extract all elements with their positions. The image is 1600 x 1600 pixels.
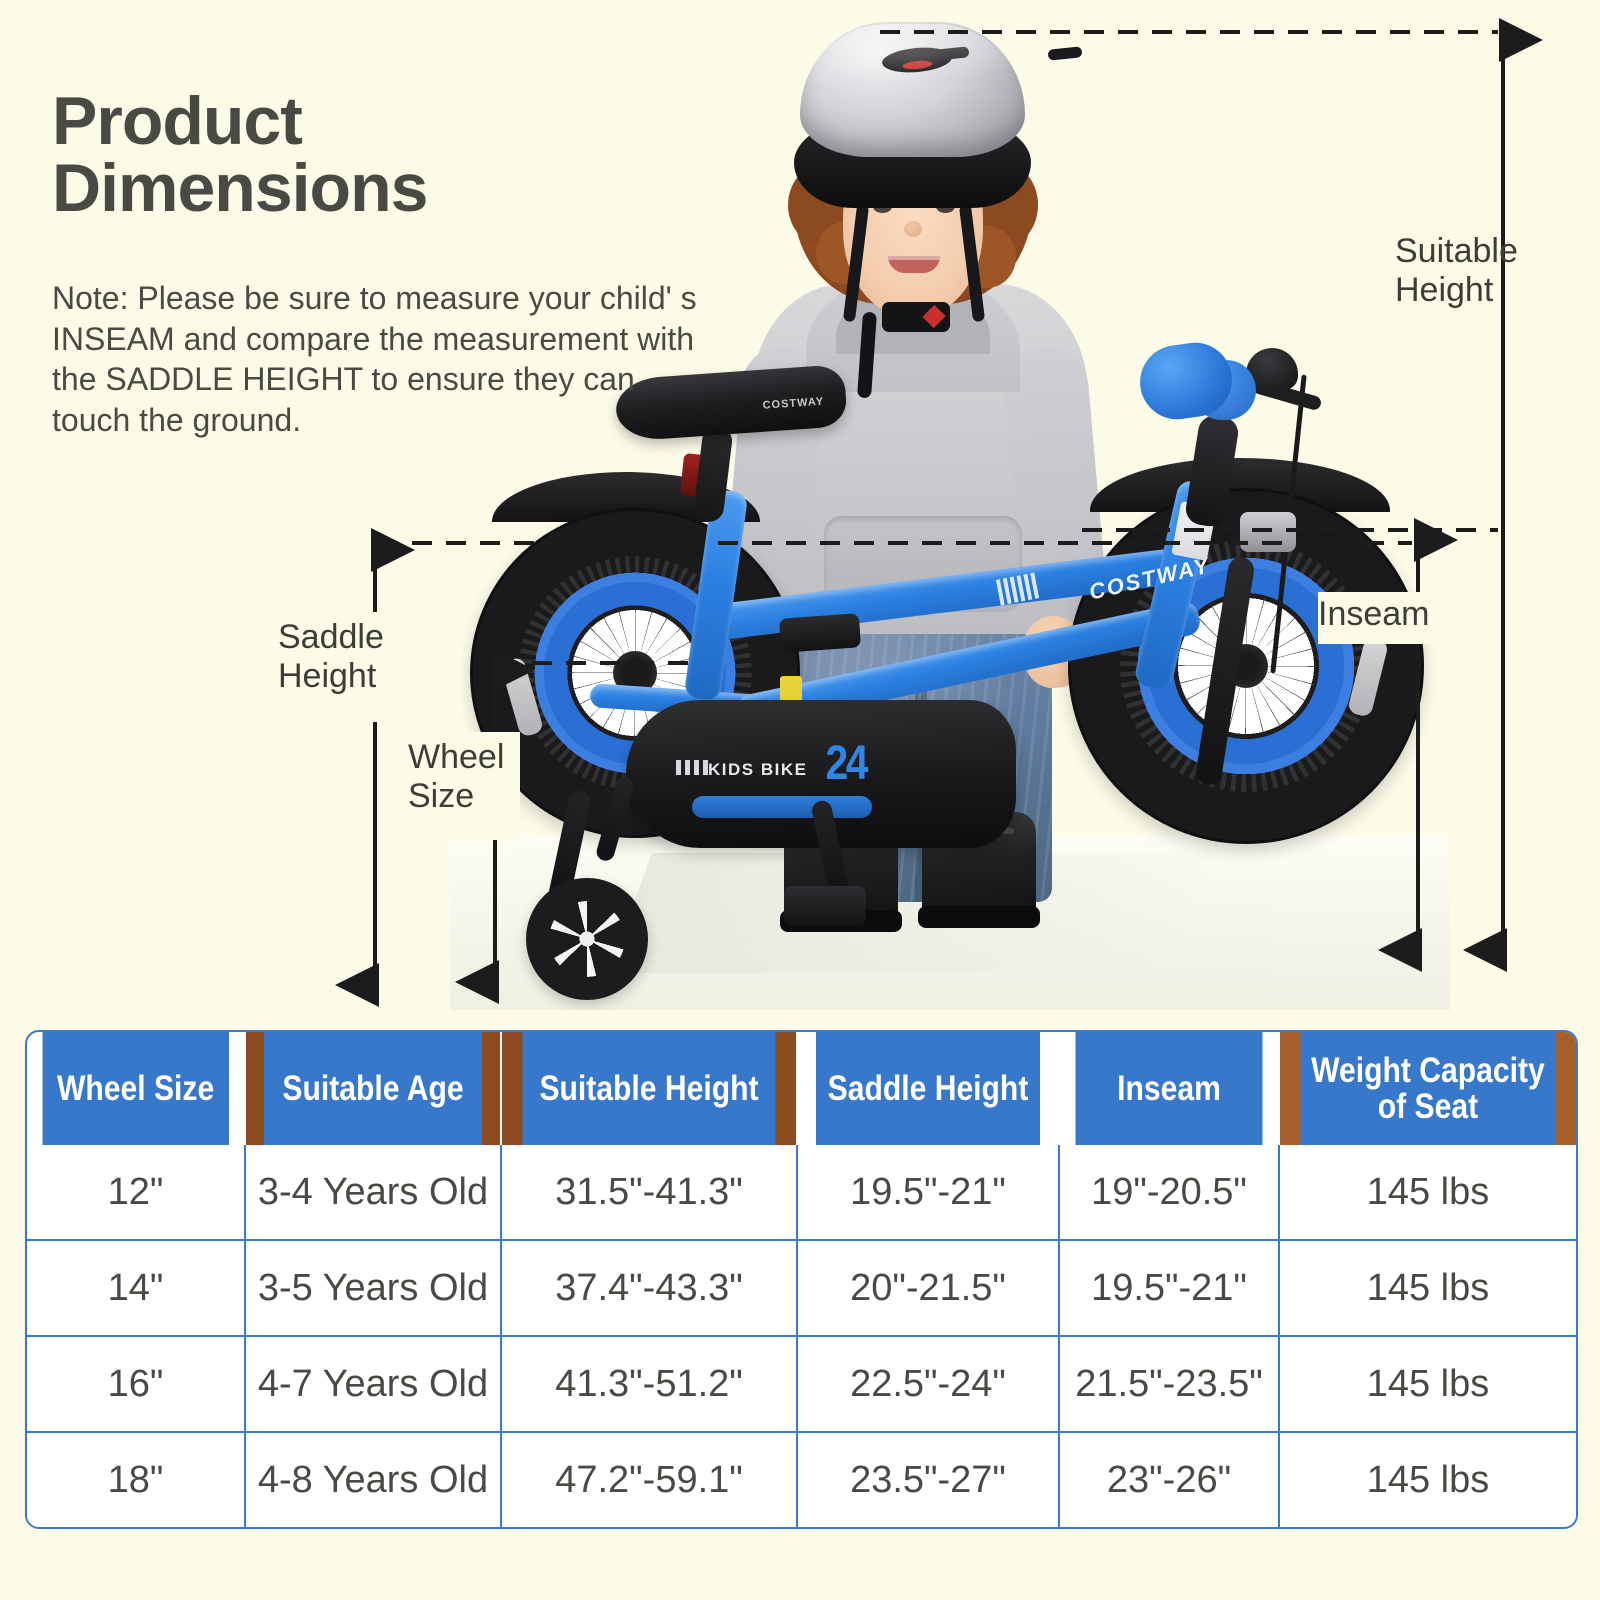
nose xyxy=(904,221,922,237)
cell-r0-c4: 19"-20.5" xyxy=(1059,1145,1279,1240)
chainguard-number: 24 xyxy=(826,736,866,791)
table-row: 14"3-5 Years Old37.4"-43.3"20"-21.5"19.5… xyxy=(27,1240,1576,1336)
table-body: 12"3-4 Years Old31.5"-41.3"19.5"-21"19"-… xyxy=(27,1145,1576,1527)
label-saddle-height: Saddle Height xyxy=(278,618,458,696)
table-row: 16"4-7 Years Old41.3"-51.2"22.5"-24"21.5… xyxy=(27,1336,1576,1432)
page-title: Product Dimensions xyxy=(52,88,692,221)
spec-table: Wheel SizeSuitable AgeSuitable HeightSad… xyxy=(27,1032,1576,1527)
cell-r0-c0: 12" xyxy=(27,1145,245,1240)
cell-r2-c2: 41.3"-51.2" xyxy=(501,1336,797,1432)
cell-r2-c4: 21.5"-23.5" xyxy=(1059,1336,1279,1432)
cell-r1-c5: 145 lbs xyxy=(1279,1240,1576,1336)
chainguard-bars xyxy=(676,760,708,775)
bottle-holder xyxy=(779,613,861,652)
mouth xyxy=(888,256,940,273)
cell-r3-c5: 145 lbs xyxy=(1279,1432,1576,1527)
cell-r2-c3: 22.5"-24" xyxy=(797,1336,1059,1432)
cell-r0-c1: 3-4 Years Old xyxy=(245,1145,501,1240)
column-header-3: Saddle Height xyxy=(815,1032,1040,1145)
cell-r3-c0: 18" xyxy=(27,1432,245,1527)
column-header-4: Inseam xyxy=(1074,1032,1263,1145)
column-header-5: Weight Capacity of Seat xyxy=(1300,1032,1555,1145)
column-header-0: Wheel Size xyxy=(42,1032,229,1145)
cell-r2-c1: 4-7 Years Old xyxy=(245,1336,501,1432)
cell-r0-c3: 19.5"-21" xyxy=(797,1145,1059,1240)
saddle-brand-label: COSTWAY xyxy=(762,396,824,412)
helmet-buckle xyxy=(882,302,950,332)
label-inseam: Inseam xyxy=(1318,595,1488,634)
brake-caliper xyxy=(1240,512,1296,552)
warning-tag xyxy=(780,676,802,702)
cell-r1-c3: 20"-21.5" xyxy=(797,1240,1059,1336)
specifications-table: Wheel SizeSuitable AgeSuitable HeightSad… xyxy=(25,1030,1578,1529)
pedal xyxy=(784,886,866,926)
training-wheel xyxy=(526,878,648,1000)
cell-r3-c3: 23.5"-27" xyxy=(797,1432,1059,1527)
cell-r1-c0: 14" xyxy=(27,1240,245,1336)
table-header: Wheel SizeSuitable AgeSuitable HeightSad… xyxy=(27,1032,1576,1145)
note-text: Note: Please be sure to measure your chi… xyxy=(52,278,702,441)
cell-r3-c2: 47.2"-59.1" xyxy=(501,1432,797,1527)
cell-r3-c4: 23"-26" xyxy=(1059,1432,1279,1527)
table-row: 12"3-4 Years Old31.5"-41.3"19.5"-21"19"-… xyxy=(27,1145,1576,1240)
table-header-row: Wheel SizeSuitable AgeSuitable HeightSad… xyxy=(27,1032,1576,1145)
cell-r2-c5: 145 lbs xyxy=(1279,1336,1576,1432)
label-suitable-height: Suitable Height xyxy=(1395,232,1570,310)
cell-r1-c4: 19.5"-21" xyxy=(1059,1240,1279,1336)
label-wheel-size: Wheel Size xyxy=(408,738,528,816)
column-header-1: Suitable Age xyxy=(263,1032,483,1145)
column-header-2: Suitable Height xyxy=(522,1032,777,1145)
cell-r1-c1: 3-5 Years Old xyxy=(245,1240,501,1336)
cell-r0-c5: 145 lbs xyxy=(1279,1145,1576,1240)
infographic-canvas: COSTWAY COSTWAY KIDS BIKE 24 xyxy=(0,0,1600,1600)
cell-r0-c2: 31.5"-41.3" xyxy=(501,1145,797,1240)
cell-r3-c1: 4-8 Years Old xyxy=(245,1432,501,1527)
chainguard-slot xyxy=(692,796,872,818)
cell-r1-c2: 37.4"-43.3" xyxy=(501,1240,797,1336)
cell-r2-c0: 16" xyxy=(27,1336,245,1432)
table-row: 18"4-8 Years Old47.2"-59.1"23.5"-27"23"-… xyxy=(27,1432,1576,1527)
chainguard-label: KIDS BIKE xyxy=(708,760,807,780)
helmet-vent xyxy=(1048,46,1083,60)
